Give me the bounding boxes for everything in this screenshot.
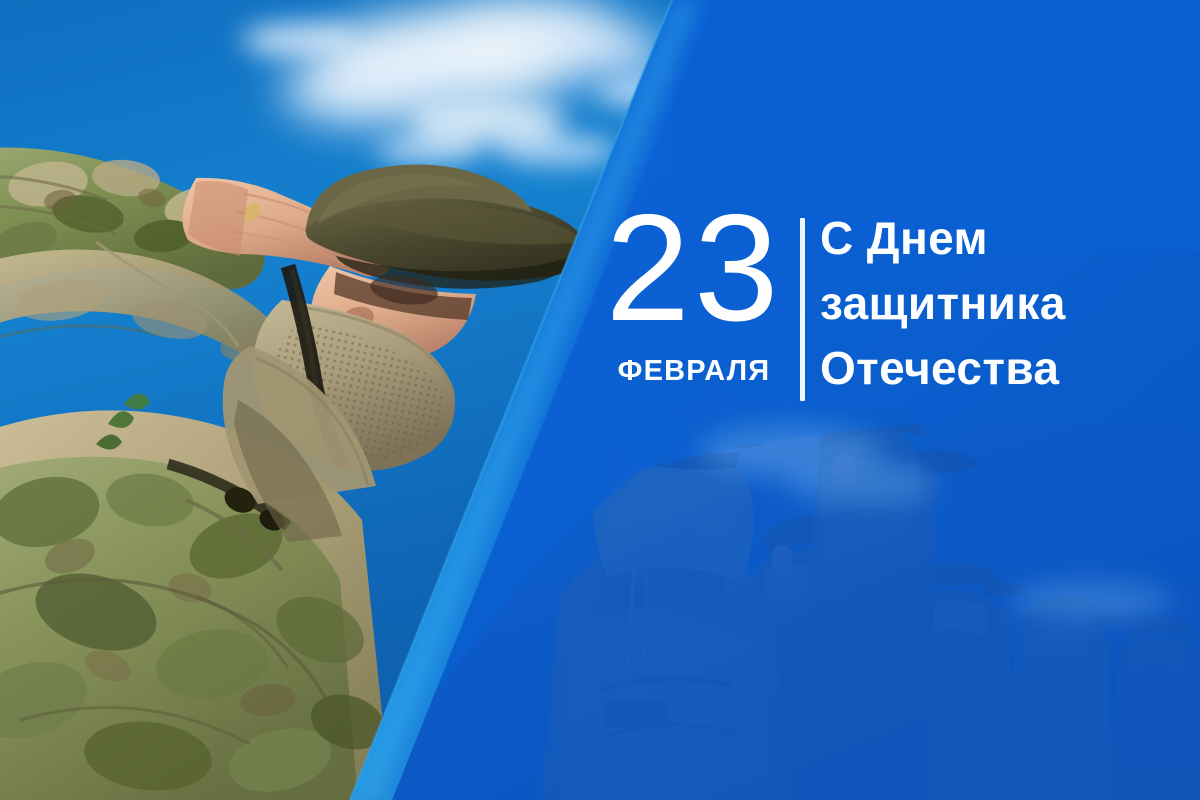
- date-block: 23 ФЕВРАЛЯ: [596, 200, 792, 410]
- greeting-line-3: Отечества: [820, 336, 1066, 401]
- greeting-line-2: защитника: [820, 271, 1066, 336]
- greeting-text: С Днем защитника Отечества: [820, 206, 1066, 401]
- date-day: 23: [596, 192, 792, 344]
- date-month: ФЕВРАЛЯ: [596, 356, 792, 386]
- greeting-poster: 23 ФЕВРАЛЯ С Днем защитника Отечества: [0, 0, 1200, 800]
- greeting-line-1: С Днем: [820, 206, 1066, 271]
